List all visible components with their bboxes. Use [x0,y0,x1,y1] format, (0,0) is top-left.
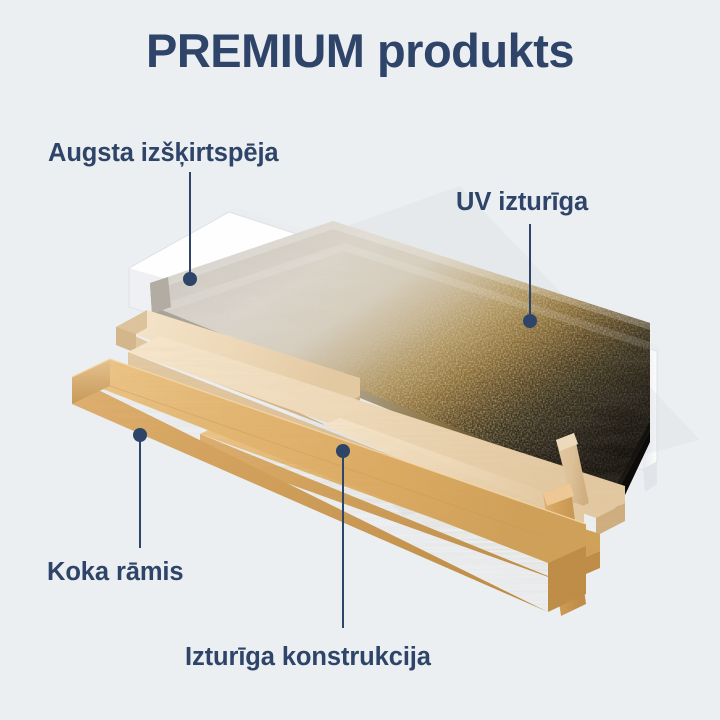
callout-label-resolution: Augsta izšķirtspēja [48,139,279,168]
exploded-product-illustration [0,0,720,720]
callout-label-uv: UV izturīga [456,188,588,217]
product-feature-infographic: PREMIUM produkts Augsta izšķirtspēja UV … [0,0,720,720]
callout-label-construction: Izturīga konstrukcija [185,643,431,672]
page-title: PREMIUM produkts [0,23,720,78]
callout-label-frame: Koka rāmis [47,558,184,587]
